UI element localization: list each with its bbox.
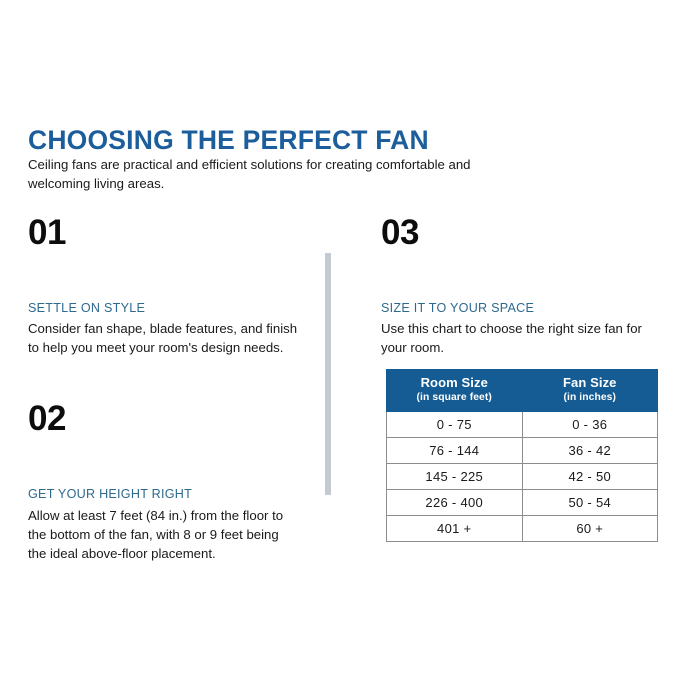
table-row: 401 + 60 +	[387, 515, 658, 541]
step-body-01: Consider fan shape, blade features, and …	[28, 319, 298, 357]
column-header-room-size-unit: (in square feet)	[391, 392, 518, 404]
column-header-fan-size-unit: (in inches)	[527, 392, 654, 404]
cell-fan-size: 50 - 54	[522, 489, 658, 515]
cell-fan-size: 60 +	[522, 515, 658, 541]
cell-room-size: 0 - 75	[387, 411, 523, 437]
cell-room-size: 226 - 400	[387, 489, 523, 515]
step-heading-03: SIZE IT TO YOUR SPACE	[381, 301, 671, 316]
step-block-03: 03 SIZE IT TO YOUR SPACE Use this chart …	[381, 215, 671, 357]
step-block-02: 02 GET YOUR HEIGHT RIGHT Allow at least …	[28, 401, 298, 563]
table-row: 226 - 400 50 - 54	[387, 489, 658, 515]
step-body-03: Use this chart to choose the right size …	[381, 319, 671, 357]
table-header-row: Room Size (in square feet) Fan Size (in …	[387, 370, 658, 412]
column-header-fan-size: Fan Size (in inches)	[522, 370, 658, 412]
page-title: CHOOSING THE PERFECT FAN	[28, 126, 429, 155]
cell-room-size: 145 - 225	[387, 463, 523, 489]
column-header-room-size: Room Size (in square feet)	[387, 370, 523, 412]
table-header: Room Size (in square feet) Fan Size (in …	[387, 370, 658, 412]
table-row: 0 - 75 0 - 36	[387, 411, 658, 437]
fan-size-chart: Room Size (in square feet) Fan Size (in …	[386, 369, 658, 542]
column-header-fan-size-main: Fan Size	[527, 376, 654, 391]
step-body-02: Allow at least 7 feet (84 in.) from the …	[28, 506, 298, 563]
page-subtitle: Ceiling fans are practical and efficient…	[28, 156, 498, 193]
step-heading-01: SETTLE ON STYLE	[28, 301, 298, 316]
step-number-01: 01	[28, 215, 298, 250]
table-row: 76 - 144 36 - 42	[387, 437, 658, 463]
cell-room-size: 76 - 144	[387, 437, 523, 463]
step-block-01: 01 SETTLE ON STYLE Consider fan shape, b…	[28, 215, 298, 357]
table-body: 0 - 75 0 - 36 76 - 144 36 - 42 145 - 225…	[387, 411, 658, 541]
cell-fan-size: 36 - 42	[522, 437, 658, 463]
step-number-03: 03	[381, 215, 671, 250]
table-row: 145 - 225 42 - 50	[387, 463, 658, 489]
step-number-02: 02	[28, 401, 298, 436]
step-heading-02: GET YOUR HEIGHT RIGHT	[28, 487, 298, 502]
column-header-room-size-main: Room Size	[391, 376, 518, 391]
cell-fan-size: 0 - 36	[522, 411, 658, 437]
column-divider	[325, 253, 331, 495]
cell-room-size: 401 +	[387, 515, 523, 541]
left-column: 01 SETTLE ON STYLE Consider fan shape, b…	[28, 215, 298, 563]
infographic-page: CHOOSING THE PERFECT FAN Ceiling fans ar…	[0, 0, 700, 700]
right-column: 03 SIZE IT TO YOUR SPACE Use this chart …	[381, 215, 671, 357]
cell-fan-size: 42 - 50	[522, 463, 658, 489]
